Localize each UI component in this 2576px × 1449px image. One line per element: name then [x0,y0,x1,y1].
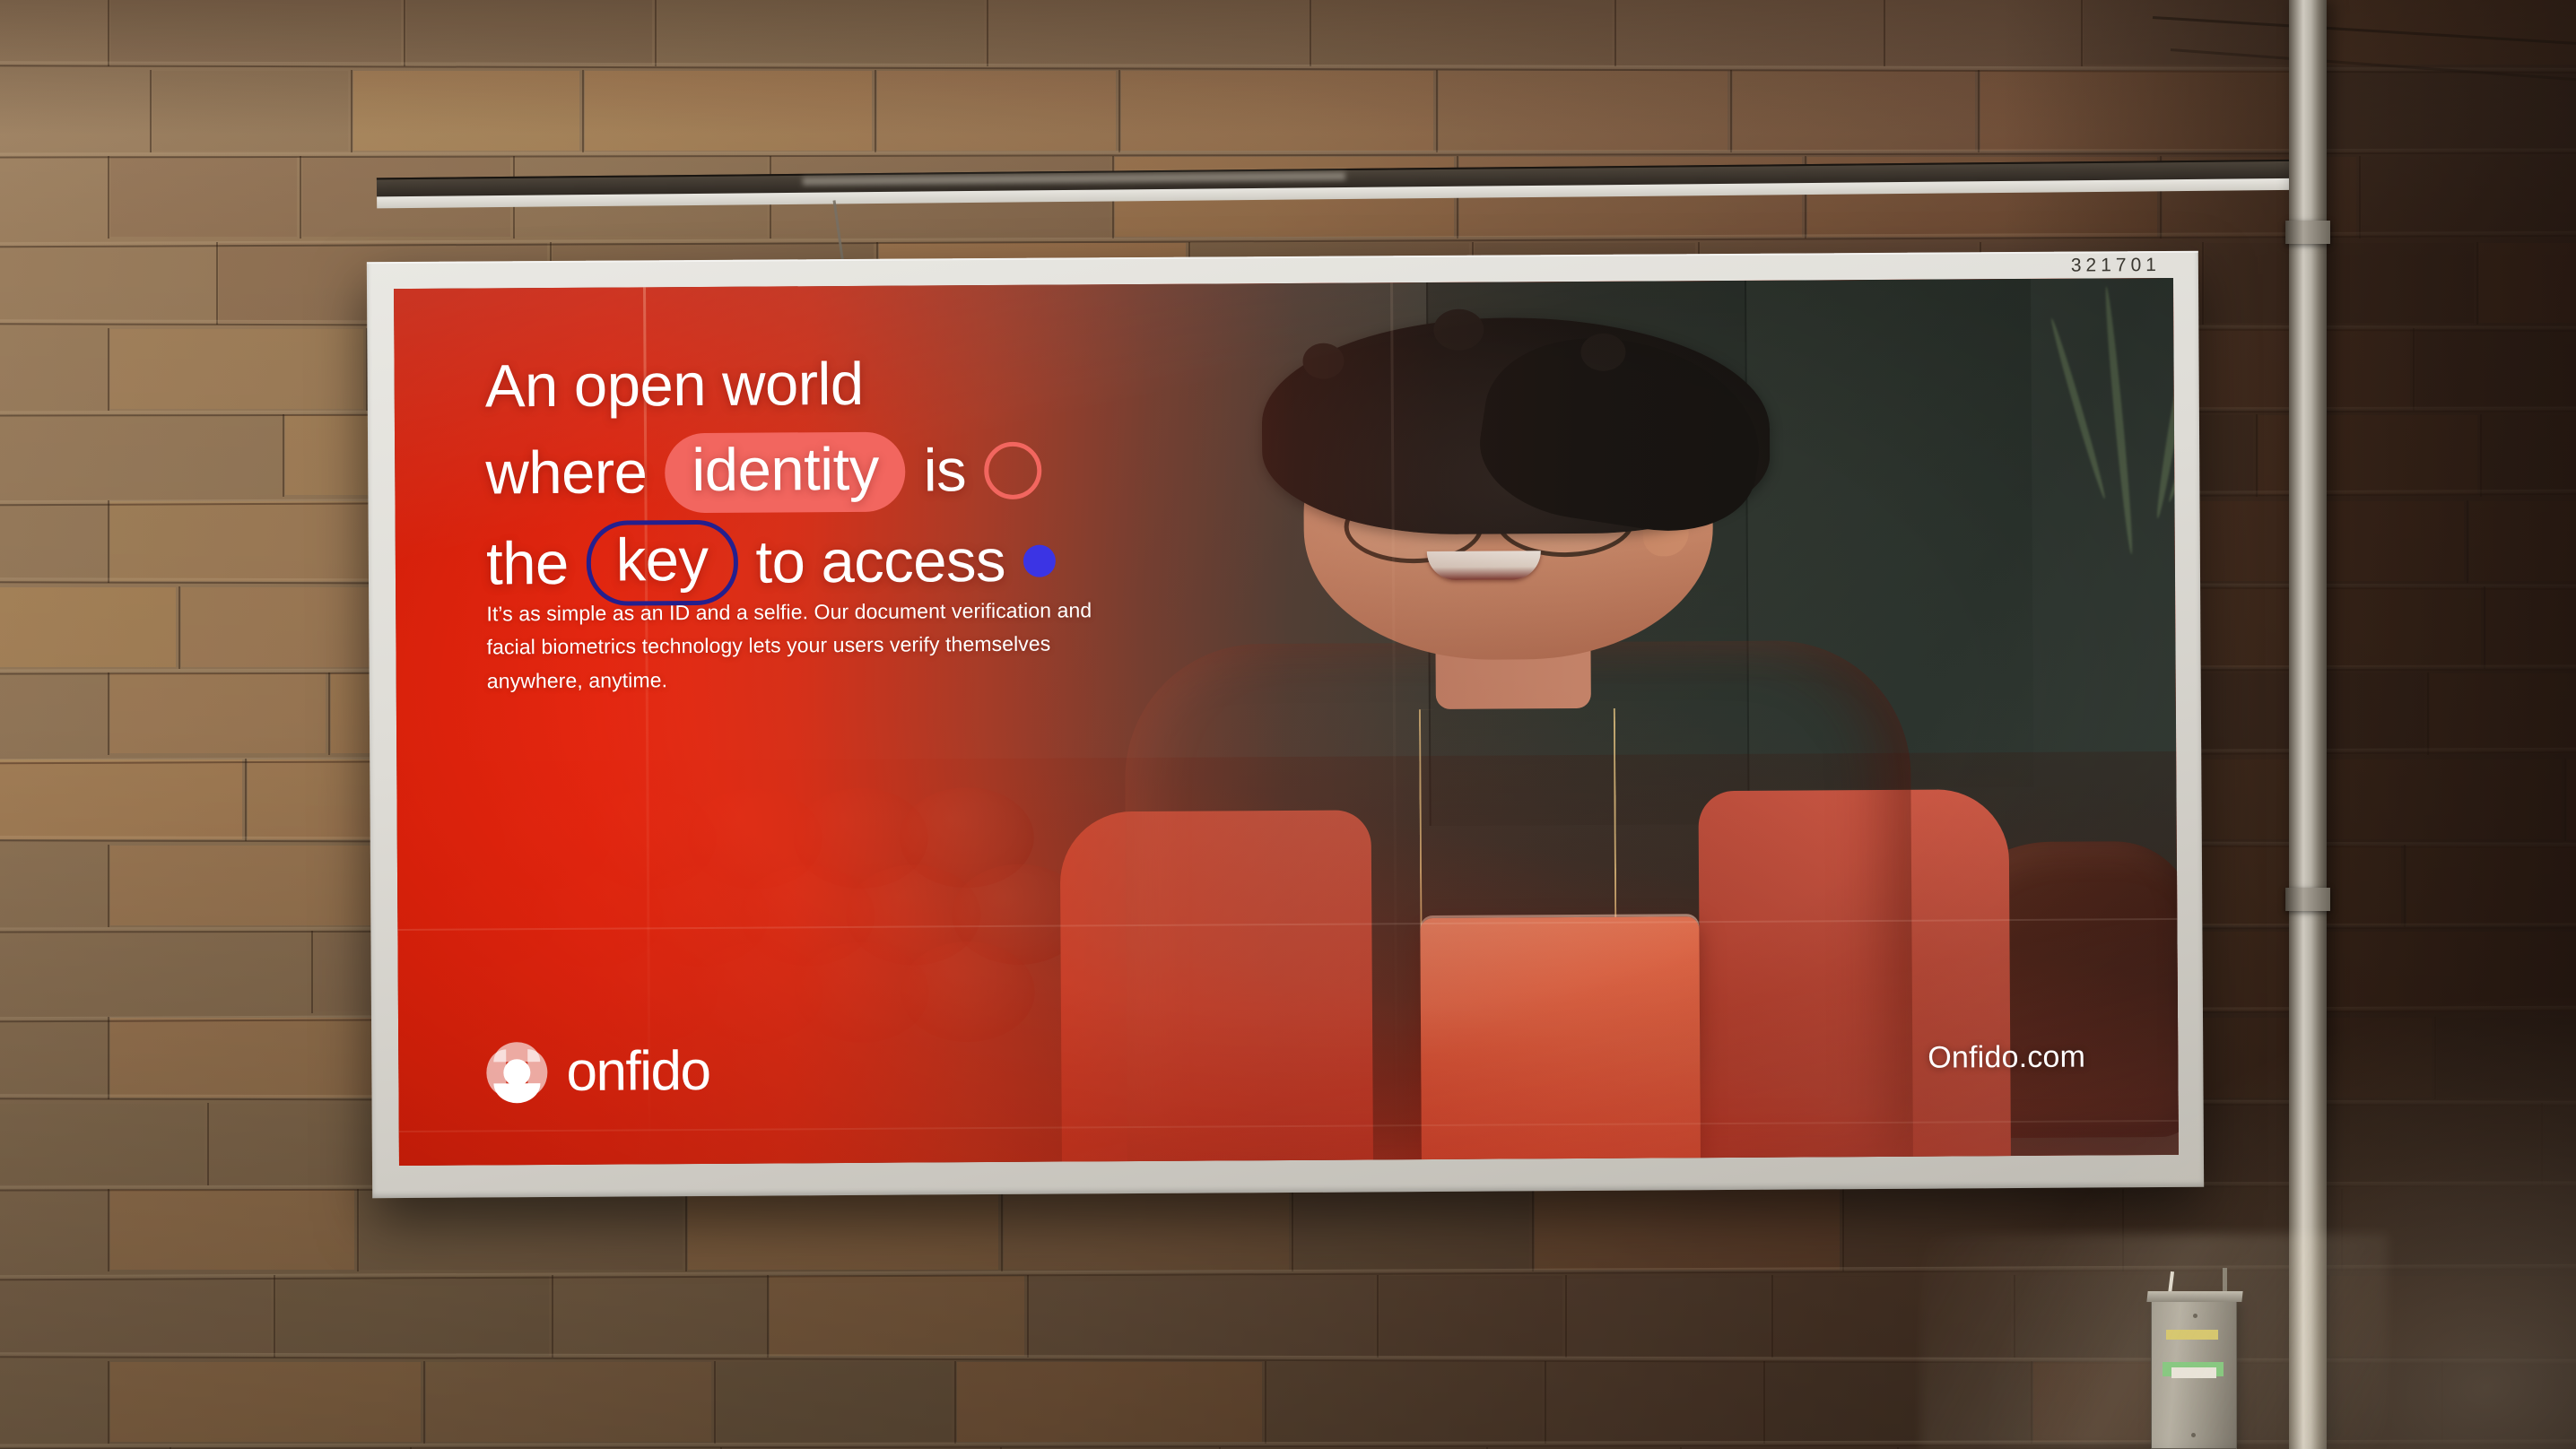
brick-face [989,0,1307,65]
brick-face [1568,1276,1769,1356]
subcopy-paragraph: It’s as simple as an ID and a selfie. Ou… [486,594,1110,698]
logo-center-dot [503,1059,530,1086]
brick-seam [108,845,109,927]
brick-face [1030,1276,1374,1356]
brick-seam [875,70,876,152]
brick-face [1294,1190,1529,1270]
brick-face [0,1276,271,1356]
brick-seam [1884,0,1885,66]
poster-content: An open world where identity is the key … [394,278,2179,1166]
brick-face [0,243,213,323]
brick-face [1121,71,1433,151]
headline-line-2: where identity is [485,427,1589,514]
headline-text-the: the [486,524,569,604]
brick-face [353,71,579,151]
brick-seam [1565,1275,1567,1358]
headline-text-to-access: to access [755,521,1005,603]
brick-face [0,71,147,151]
brick-face [110,1190,354,1270]
utility-box-label-yellow [2166,1330,2218,1340]
brick-seam [300,156,301,239]
brick-seam [1001,1189,1003,1271]
downpipe-collar [2285,888,2330,911]
brick-seam [351,70,352,152]
brick-face [770,1276,1024,1356]
drain-downpipe [2289,0,2327,1449]
brick-seam [987,0,988,66]
downpipe-collar [2285,221,2330,244]
brick-seam [108,672,109,755]
brick-seam [108,0,109,66]
brick-face [1379,1276,1562,1356]
brick-face [110,157,297,237]
brick-seam [108,500,109,583]
brick-face [152,71,348,151]
onfido-wordmark: onfido [566,1044,709,1100]
advertisement-poster[interactable]: An open world where identity is the key … [394,278,2179,1166]
brick-seam [1771,1275,1773,1358]
brick-seam [714,1361,716,1444]
onfido-logo-mark-icon [487,1043,546,1102]
brick-seam [1545,1361,1546,1444]
outline-pill-key: key [586,520,737,606]
brick-seam [108,1361,109,1444]
brick-seam [274,1275,275,1358]
brick-seam [108,1017,109,1099]
brick-face [688,1190,998,1270]
brick-face [1267,1362,1542,1442]
brick-seam [108,156,109,239]
brick-face [0,932,309,1011]
brick-seam [1265,1361,1266,1444]
brick-seam [1292,1189,1293,1271]
brick-face [957,1362,1262,1442]
ring-circle-icon [984,442,1041,499]
brick-face [554,1276,764,1356]
brick-face [717,1362,952,1442]
brick-face [1547,1362,1761,1442]
brick-seam [582,70,584,152]
headline-text-where: where [485,433,648,515]
brick-face [110,0,401,65]
onfido-logo[interactable]: onfido [487,1042,709,1103]
brick-face [0,759,242,839]
blue-dot-icon [1023,544,1056,577]
headline-text-1: An open world [485,343,864,426]
brick-seam [1436,70,1438,152]
brick-seam [404,0,405,66]
brick-face [360,1190,683,1270]
brick-face [110,846,392,925]
headline-line-1: An open world [485,339,1589,426]
brick-seam [423,1361,425,1444]
brick-face [1774,1276,2011,1356]
brick-face [1617,0,1881,65]
brick-seam [150,70,152,152]
headline: An open world where identity is the key … [485,339,1590,606]
utility-box-screw [2193,1314,2197,1318]
brick-seam [108,328,109,411]
brick-seam [685,1189,687,1271]
brick-seam [108,1189,109,1271]
brick-seam [1118,70,1120,152]
brick-face [110,673,326,753]
brick-seam [655,0,657,66]
brick-seam [1978,70,1980,152]
brick-seam [178,586,180,669]
utility-box-screw [2191,1433,2196,1437]
brick-face [877,71,1116,151]
brick-seam [216,242,218,325]
brick-face [1535,1190,1840,1270]
billboard[interactable]: 321701 [367,251,2204,1198]
brick-face [426,1362,711,1442]
brick-seam [1027,1275,1029,1358]
brick-seam [1532,1189,1534,1271]
brick-seam [954,1361,956,1444]
brick-seam [283,414,284,497]
billboard-panel-id: 321701 [2071,255,2161,277]
brick-face [0,415,280,495]
highlight-pill-identity: identity [665,431,906,513]
brick-face [1733,71,1975,151]
brick-face [110,329,363,409]
brick-face [1004,1190,1289,1270]
brick-seam [552,1275,553,1358]
brick-seam [1614,0,1616,66]
brick-seam [767,1275,769,1358]
brick-face [110,1362,421,1442]
brick-face [1312,0,1612,65]
utility-box-label-white [2171,1367,2216,1378]
website-url[interactable]: Onfido.com [1928,1040,2085,1076]
street-scene: 321701 [0,0,2576,1449]
brick-face [1766,1362,2028,1442]
brick-seam [207,1103,209,1185]
brick-seam [1730,70,1732,152]
brick-seam [328,672,330,755]
brick-seam [1310,0,1311,66]
brick-face [276,1276,549,1356]
utility-box-cap [2146,1291,2242,1302]
brick-face [406,0,652,65]
brick-seam [357,1189,359,1271]
headline-line-3: the key to access [486,515,1590,607]
brick-seam [245,759,247,841]
brick-face [0,1104,205,1184]
brick-face [1439,71,1727,151]
electrical-utility-box [2151,1298,2237,1449]
brick-seam [311,931,313,1013]
brick-seam [1377,1275,1379,1358]
headline-text-is: is [923,430,966,511]
brick-seam [1842,1189,1844,1271]
brick-face [0,587,176,667]
brick-face [585,71,872,151]
brick-seam [1763,1361,1765,1444]
brick-face [657,0,984,65]
